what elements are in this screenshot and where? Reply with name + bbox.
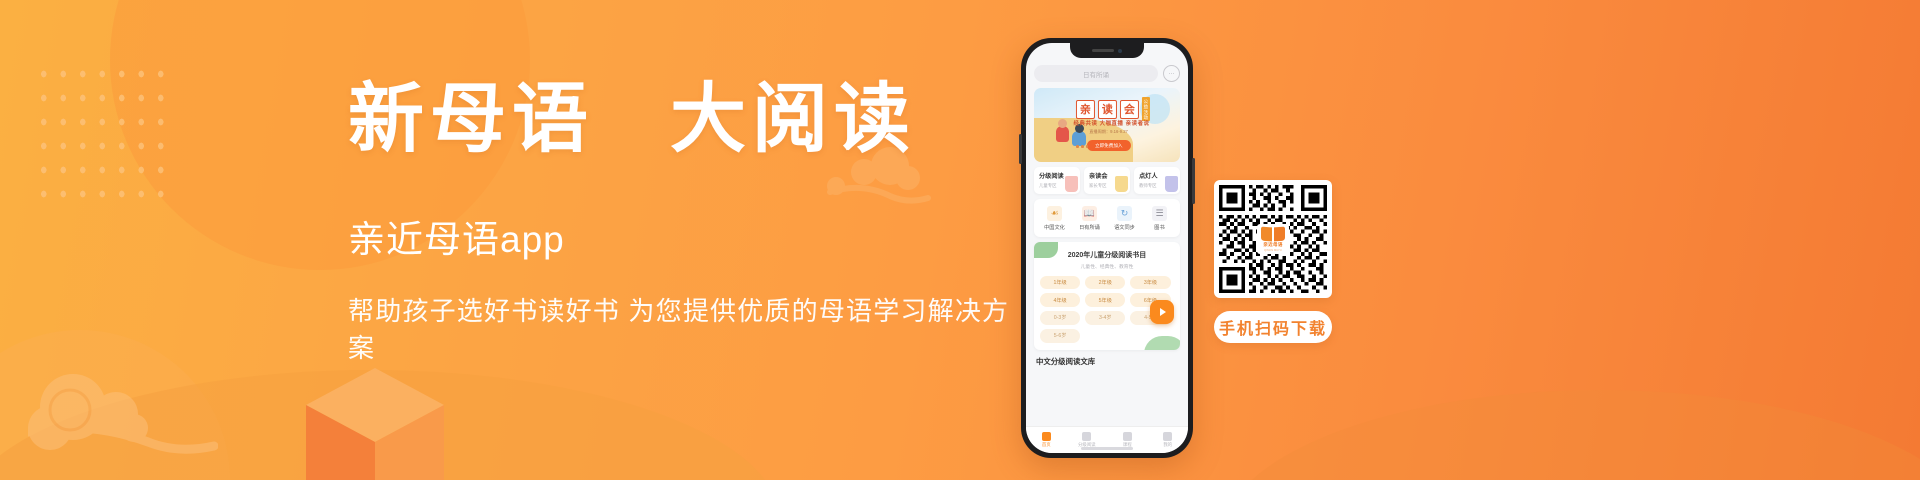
- headline-part-2: 大阅读: [670, 78, 916, 162]
- age-button[interactable]: 3-4岁: [1085, 311, 1125, 325]
- banner-tagline: 帮助孩子选好书读好书 为您提供优质的母语学习解决方案: [348, 291, 1028, 365]
- library-section-title: 中文分级阅读文库: [1034, 356, 1180, 367]
- tab-label: 首页: [1026, 442, 1067, 448]
- decor-cube: [300, 360, 450, 480]
- headline-part-1: 新母语: [348, 78, 594, 162]
- hero-char-2: 读: [1098, 100, 1117, 119]
- hero-char-3: 会: [1120, 100, 1139, 119]
- download-button[interactable]: 手机扫码下载: [1214, 311, 1332, 343]
- app-search-row: 日有所诵 ···: [1034, 65, 1180, 82]
- bookmark-icon: [1065, 176, 1078, 192]
- hero-title: 亲 读 会 公益活动: [1076, 97, 1150, 121]
- tab-home[interactable]: 首页: [1026, 432, 1067, 449]
- card-parent-club[interactable]: 亲读会 家长专区: [1084, 167, 1130, 194]
- tab-mine[interactable]: 我的: [1148, 432, 1189, 449]
- tab-label: 我的: [1148, 442, 1189, 448]
- qr-block: 亲近母语 QINJIN MUYU 手机扫码下载: [1214, 180, 1332, 343]
- phone-mockup: 日有所诵 ··· 亲 读 会 公益活动 经典共读 大咖直播 亲读者说: [1021, 38, 1193, 458]
- hero-banner[interactable]: 亲 读 会 公益活动 经典共读 大咖直播 亲读者说 直播周期：9.16-9.27…: [1034, 88, 1180, 162]
- home-indicator: [1081, 447, 1133, 450]
- booklist-section: 2020年儿童分级阅读书目 儿童性、经典性、教育性 1年级 2年级 3年级 4年…: [1034, 242, 1180, 350]
- banner-copy: 新母语 大阅读 亲近母语app 帮助孩子选好书读好书 为您提供优质的母语学习解决…: [348, 78, 1028, 365]
- quick-links: ☙ 中国文化 📖 日有所诵 ↻ 语文同步 ☰ 图书: [1034, 199, 1180, 237]
- bookmark-icon: [1115, 176, 1128, 192]
- card-graded-reading[interactable]: 分级阅读 儿童专区: [1034, 167, 1080, 194]
- decor-hill-right: [1220, 390, 1920, 480]
- bookmark-icon: [1165, 176, 1178, 192]
- qr-card: 亲近母语 QINJIN MUYU: [1214, 180, 1332, 298]
- video-play-icon[interactable]: [1150, 300, 1174, 324]
- hero-flag: 公益活动: [1142, 97, 1150, 121]
- home-icon: [1042, 432, 1051, 441]
- booklist-title: 2020年儿童分级阅读书目: [1040, 250, 1174, 260]
- card-teacher-zone[interactable]: 点灯人 教师专区: [1134, 167, 1180, 194]
- tab-course[interactable]: 课程: [1107, 432, 1148, 449]
- hero-child-blue: [1072, 131, 1086, 146]
- quick-link-recite[interactable]: 📖 日有所诵: [1072, 206, 1107, 231]
- quick-link-label: 语文同步: [1107, 224, 1142, 231]
- reading-icon: [1082, 432, 1091, 441]
- hero-child-red: [1056, 126, 1069, 142]
- app-content: 日有所诵 ··· 亲 读 会 公益活动 经典共读 大咖直播 亲读者说: [1026, 43, 1188, 367]
- page-title: 新母语 大阅读: [348, 78, 1028, 163]
- hero-char-1: 亲: [1076, 100, 1095, 119]
- speaker-icon: [1092, 49, 1114, 52]
- app-tab-bar: 首页 分级阅读 课程 我的: [1026, 426, 1188, 453]
- app-name-subtitle: 亲近母语app: [348, 209, 1028, 263]
- books-icon: ☰: [1152, 206, 1167, 221]
- decor-circle-bottom-left: [0, 330, 230, 480]
- book-logo-icon: [1261, 227, 1285, 241]
- qr-center-logo: 亲近母语 QINJIN MUYU: [1257, 224, 1289, 254]
- hero-carousel-dots[interactable]: [1076, 145, 1088, 148]
- quick-link-culture[interactable]: ☙ 中国文化: [1037, 206, 1072, 231]
- decor-hill-left: [0, 370, 780, 480]
- grade-button[interactable]: 2年级: [1085, 276, 1125, 290]
- message-icon[interactable]: ···: [1163, 65, 1180, 82]
- phone-screen: 日有所诵 ··· 亲 读 会 公益活动 经典共读 大咖直播 亲读者说: [1026, 43, 1188, 453]
- sync-icon: ↻: [1117, 206, 1132, 221]
- booklist-subtitle: 儿童性、经典性、教育性: [1040, 263, 1174, 270]
- qr-logo-name: 亲近母语: [1263, 242, 1283, 248]
- quick-link-books[interactable]: ☰ 图书: [1142, 206, 1177, 231]
- age-button[interactable]: 0-3岁: [1040, 311, 1080, 325]
- quick-link-label: 中国文化: [1037, 224, 1072, 231]
- vase-icon: ☙: [1047, 206, 1062, 221]
- cloud-icon: [28, 362, 218, 472]
- age-button[interactable]: 5-6岁: [1040, 329, 1080, 343]
- course-icon: [1123, 432, 1132, 441]
- search-input[interactable]: 日有所诵: [1034, 65, 1158, 82]
- grade-button[interactable]: 1年级: [1040, 276, 1080, 290]
- hero-join-button[interactable]: 立即免费加入: [1087, 140, 1131, 151]
- promo-banner: 新母语 大阅读 亲近母语app 帮助孩子选好书读好书 为您提供优质的母语学习解决…: [0, 0, 1920, 480]
- hero-subtitle: 经典共读 大咖直播 亲读者说: [1074, 119, 1150, 127]
- camera-icon: [1118, 49, 1122, 53]
- phone-notch: [1070, 43, 1144, 58]
- user-icon: [1163, 432, 1172, 441]
- grade-button[interactable]: 5年级: [1085, 293, 1125, 307]
- category-cards: 分级阅读 儿童专区 亲读会 家长专区 点灯人 教师专区: [1034, 167, 1180, 194]
- quick-link-sync[interactable]: ↻ 语文同步: [1107, 206, 1142, 231]
- quick-link-label: 日有所诵: [1072, 224, 1107, 231]
- qr-logo-en: QINJIN MUYU: [1264, 249, 1282, 252]
- grade-button[interactable]: 3年级: [1130, 276, 1170, 290]
- hero-date: 直播周期：9.16-9.27: [1089, 129, 1128, 135]
- quick-link-label: 图书: [1142, 224, 1177, 231]
- decor-dot-grid: [34, 62, 174, 214]
- grade-button[interactable]: 4年级: [1040, 293, 1080, 307]
- tab-graded-reading[interactable]: 分级阅读: [1067, 432, 1108, 449]
- book-open-icon: 📖: [1082, 206, 1097, 221]
